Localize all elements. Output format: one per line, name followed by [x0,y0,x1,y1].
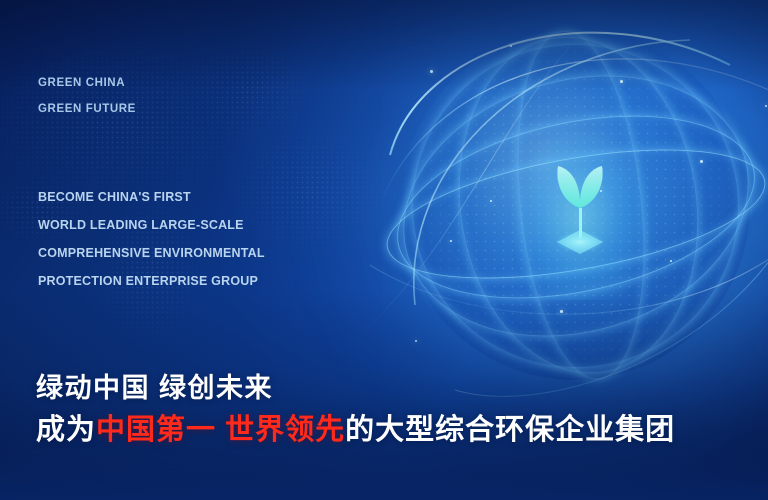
particle [620,80,623,83]
particle [415,340,417,342]
sprout-glow [510,125,650,300]
eyebrow-line-1: GREEN CHINA [38,70,136,96]
particle [560,310,563,313]
particle [765,105,767,107]
headline-prefix: 成为 [36,414,96,446]
eyebrow-block: GREEN CHINA GREEN FUTURE [38,70,136,122]
headline-highlight: 中国第一 世界领先 [96,414,345,446]
globe-graphic [370,10,768,420]
particle [490,200,492,202]
sprout-icon [545,150,615,270]
particle [450,240,452,242]
particle [600,190,602,192]
particle [510,45,512,47]
english-tagline-block: BECOME CHINA'S FIRST WORLD LEADING LARGE… [38,183,265,295]
english-tagline-line-1: BECOME CHINA'S FIRST [38,183,265,211]
particle [670,260,672,262]
headline-suffix: 的大型综合环保企业集团 [345,414,675,446]
english-tagline-line-3: COMPREHENSIVE ENVIRONMENTAL [38,239,265,267]
english-tagline-line-2: WORLD LEADING LARGE-SCALE [38,211,265,239]
english-tagline-line-4: PROTECTION ENTERPRISE GROUP [38,267,265,295]
particle [700,160,703,163]
eyebrow-line-2: GREEN FUTURE [38,96,136,122]
headline-block: 绿动中国 绿创未来 成为中国第一 世界领先的大型综合环保企业集团 [36,368,736,452]
particle [430,70,433,73]
headline-line-1: 绿动中国 绿创未来 [36,368,736,408]
headline-line-2: 成为中国第一 世界领先的大型综合环保企业集团 [36,408,736,452]
hero-banner: GREEN CHINA GREEN FUTURE BECOME CHINA'S … [0,0,768,500]
